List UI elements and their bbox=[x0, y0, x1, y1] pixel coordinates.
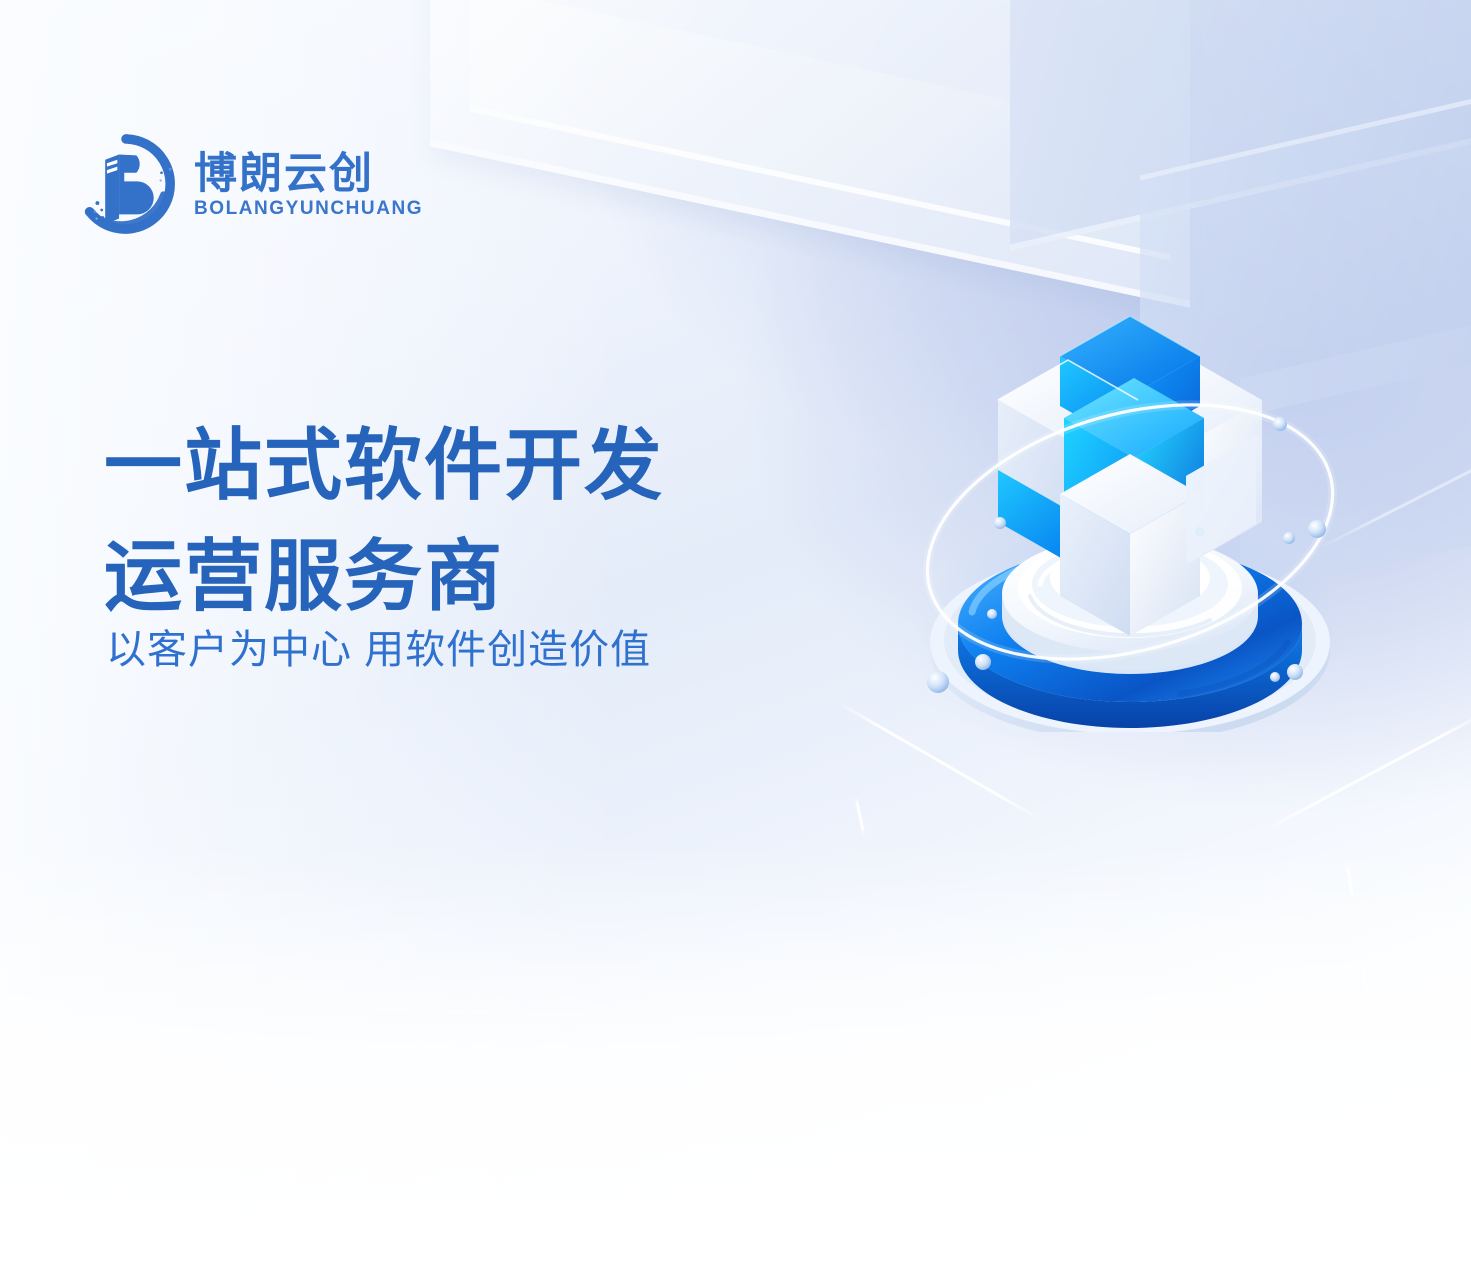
logo-name-en: BOLANGYUNCHUANG bbox=[194, 199, 423, 220]
headline-line-1: 一站式软件开发 bbox=[104, 410, 664, 521]
headline-line-2: 运营服务商 bbox=[104, 521, 664, 632]
circular-b-monogram-logo-icon bbox=[74, 132, 178, 236]
hero-illustration bbox=[880, 232, 1380, 732]
page-title: 一站式软件开发 运营服务商 bbox=[104, 410, 664, 632]
logo-name-cn: 博朗云创 bbox=[194, 152, 423, 197]
company-logo[interactable]: 博朗云创 BOLANGYUNCHUANG bbox=[74, 132, 423, 236]
logo-wordmark: 博朗云创 BOLANGYUNCHUANG bbox=[194, 148, 423, 220]
page-subtitle: 以客户为中心 用软件创造价值 bbox=[106, 622, 651, 678]
hero-banner: 博朗云创 BOLANGYUNCHUANG 一站式软件开发 运营服务商 以客户为中… bbox=[0, 0, 1471, 1262]
background-bottom-fade bbox=[0, 842, 1471, 1262]
